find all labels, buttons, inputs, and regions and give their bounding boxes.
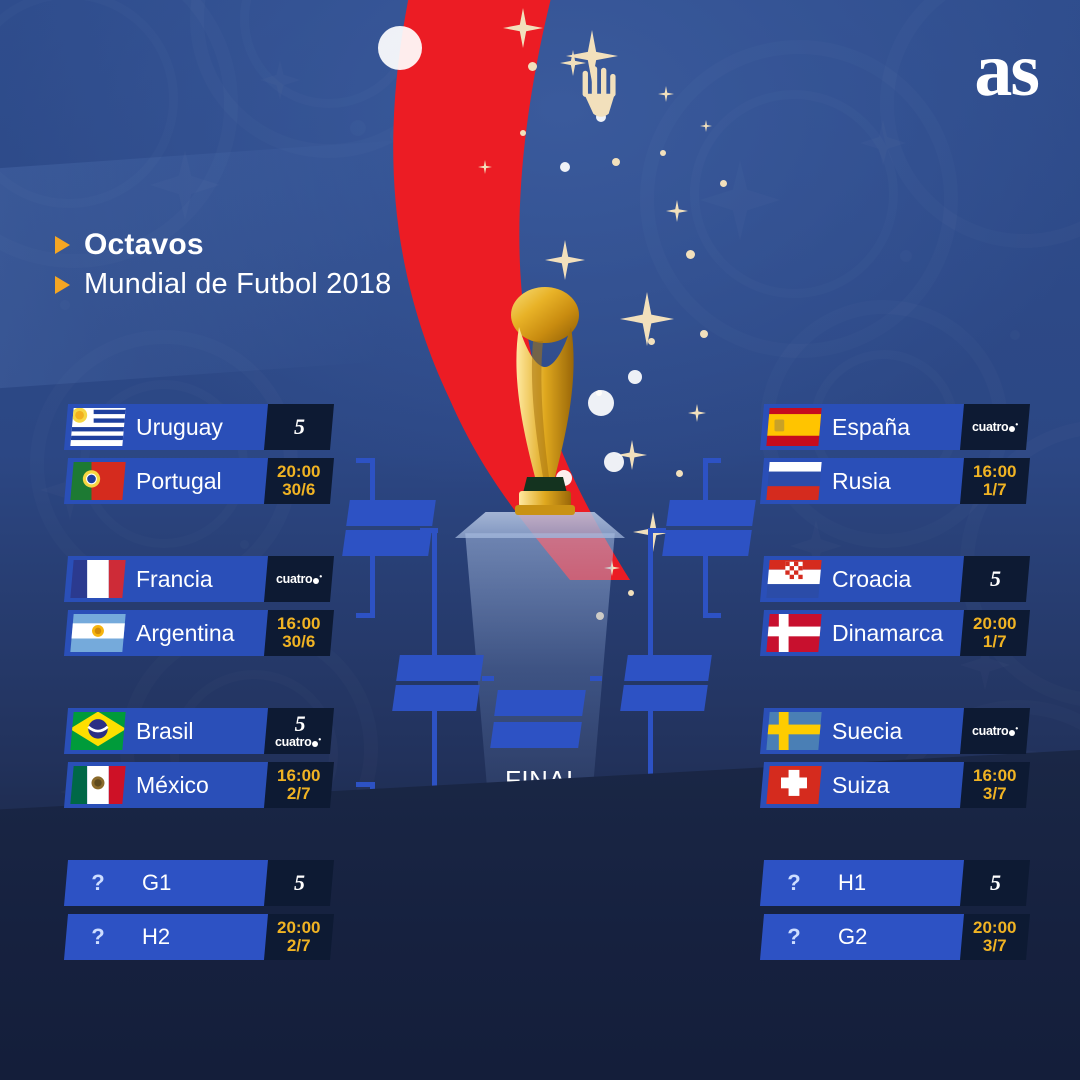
kickoff-hour: 20:00 [277,463,320,481]
connector-stub [420,528,438,533]
connector-stub [703,458,721,463]
match-team-row[interactable]: ?H15 [762,860,1022,906]
kickoff-time: 16:0030/6 [277,615,320,651]
kickoff-time: 16:003/7 [973,767,1016,803]
kickoff-time: 20:001/7 [973,615,1016,651]
bracket-infographic: Octavos Mundial de Futbol 2018 as FINAL … [0,0,1080,1080]
flag-suiza-icon [766,766,821,804]
kickoff-hour: 16:00 [973,767,1016,785]
connector-vertical [370,880,375,942]
kickoff-date: 1/7 [973,481,1016,499]
match-team-row[interactable]: Argentina16:0030/6 [66,610,326,656]
kickoff-date: 2/7 [277,785,320,803]
connector-vertical [703,458,708,520]
title-row-secondary: Mundial de Futbol 2018 [55,268,392,301]
flag-brasil-icon [70,712,125,750]
channel-panel: cuatro• [960,708,1030,754]
connector-vertical [703,880,708,942]
title-row-primary: Octavos [55,228,392,262]
match-team-row[interactable]: ?G15 [66,860,326,906]
team-name: G1 [142,860,171,906]
semifinal-slot [624,655,712,681]
final-slot [490,722,582,748]
connector-stub [356,937,374,942]
connector-vertical [648,528,653,668]
unknown-team-icon: ? [768,914,820,960]
page-title: Octavos Mundial de Futbol 2018 [55,228,392,307]
kickoff-panel: 16:001/7 [960,458,1030,504]
team-name: Brasil [136,708,194,754]
flag-dinamarca-icon [766,614,821,652]
connector-vertical [432,528,437,668]
semifinal-slot [620,685,708,711]
match-card[interactable]: Españacuatro•Rusia16:001/7 [762,404,1022,512]
match-team-row[interactable]: Portugal20:0030/6 [66,458,326,504]
match-card[interactable]: ?G15?H220:002/7 [66,860,326,968]
kickoff-date: 30/6 [277,633,320,651]
match-team-row[interactable]: México16:002/7 [66,762,326,808]
connector-vertical [703,782,708,844]
connector-stub [356,613,374,618]
match-team-row[interactable]: Brasil5cuatro• [66,708,326,754]
kickoff-date: 2/7 [277,937,320,955]
cuatro-logo-icon: cuatro• [275,736,321,749]
match-team-row[interactable]: Franciacuatro• [66,556,326,602]
telecinco-logo-icon: 5 [990,872,1001,894]
team-name: Dinamarca [832,610,943,656]
kickoff-hour: 16:00 [277,767,320,785]
telecinco-logo-icon: 5 [294,872,305,894]
final-slot [494,690,586,716]
flag-mexico-icon [70,766,125,804]
quarterfinal-slot [342,530,432,556]
pedestal-top [455,512,625,538]
kickoff-hour: 20:00 [277,919,320,937]
kickoff-hour: 20:00 [973,615,1016,633]
channel-panel: 5 [960,860,1030,906]
kickoff-date: 30/6 [277,481,320,499]
match-card[interactable]: Sueciacuatro•Suiza16:003/7 [762,708,1022,816]
quarterfinal-slot [662,530,752,556]
unknown-team-icon: ? [72,860,124,906]
connector-stub [703,613,721,618]
heading-line1: Octavos [84,228,204,262]
match-team-row[interactable]: Croacia5 [762,556,1022,602]
flag-uruguay-icon [70,408,125,446]
connector-vertical [432,700,437,840]
kickoff-panel: 20:002/7 [264,914,334,960]
kickoff-time: 16:002/7 [277,767,320,803]
connector-vertical [703,556,708,618]
connector-stub [703,782,721,787]
triangle-bullet-icon [55,236,70,254]
connector-stub [482,676,494,681]
cuatro-logo-icon: cuatro• [972,725,1018,738]
match-team-row[interactable]: Suiza16:003/7 [762,762,1022,808]
final-label: FINAL [505,765,581,796]
match-team-row[interactable]: ?G220:003/7 [762,914,1022,960]
flag-argentina-icon [70,614,125,652]
kickoff-panel: 20:0030/6 [264,458,334,504]
team-name: Suecia [832,708,902,754]
connector-stub [356,458,374,463]
pedestal [455,520,625,850]
channel-panel: 5cuatro• [264,708,334,754]
flag-suecia-icon [766,712,821,750]
team-name: Croacia [832,556,911,602]
flag-portugal-icon [70,462,125,500]
semifinal-slot [396,655,484,681]
team-name: Suiza [832,762,890,808]
quarterfinal-slot [666,500,756,526]
team-name: G2 [838,914,867,960]
kickoff-panel: 20:001/7 [960,610,1030,656]
flag-espana-icon [766,408,821,446]
channel-panel: 5 [264,404,334,450]
telecinco-logo-icon: 5 [990,568,1001,590]
cuatro-logo-icon: cuatro• [972,421,1018,434]
connector-vertical [648,700,653,840]
unknown-team-icon: ? [768,860,820,906]
unknown-team-icon: ? [72,914,124,960]
connector-stub [420,835,438,840]
kickoff-panel: 16:002/7 [264,762,334,808]
match-card[interactable]: ?H15?G220:003/7 [762,860,1022,968]
team-name: España [832,404,910,450]
team-name: Argentina [136,610,234,656]
kickoff-date: 3/7 [973,937,1016,955]
quarterfinal-slot [666,823,756,849]
match-card[interactable]: Croacia5Dinamarca20:001/7 [762,556,1022,664]
match-card[interactable]: Franciacuatro•Argentina16:0030/6 [66,556,326,664]
connector-stub [648,835,666,840]
kickoff-hour: 16:00 [973,463,1016,481]
channel-panel: 5 [264,860,334,906]
flag-croacia-icon [766,560,821,598]
team-name: Rusia [832,458,891,504]
quarterfinal-slot [662,853,752,879]
connector-stub [703,937,721,942]
match-card[interactable]: Uruguay5Portugal20:0030/6 [66,404,326,512]
connector-vertical [370,556,375,618]
kickoff-hour: 20:00 [973,919,1016,937]
connector-vertical [370,782,375,844]
match-card[interactable]: Brasil5cuatro•México16:002/7 [66,708,326,816]
flag-francia-icon [70,560,125,598]
telecinco-logo-icon: 5 [294,416,305,438]
channel-panel: cuatro• [960,404,1030,450]
kickoff-panel: 20:003/7 [960,914,1030,960]
connector-stub [590,676,602,681]
connector-vertical [370,458,375,520]
match-team-row[interactable]: Rusia16:001/7 [762,458,1022,504]
match-team-row[interactable]: Uruguay5 [66,404,326,450]
kickoff-panel: 16:0030/6 [264,610,334,656]
semifinal-slot [392,685,480,711]
team-name: Portugal [136,458,222,504]
flag-rusia-icon [766,462,821,500]
channel-panel: cuatro• [264,556,334,602]
channel-panel: 5 [960,556,1030,602]
kickoff-date: 1/7 [973,633,1016,651]
quarterfinal-slot [342,853,432,879]
connector-stub [648,528,666,533]
kickoff-time: 20:002/7 [277,919,320,955]
telecinco-logo-icon: 5 [294,713,305,735]
team-name: Uruguay [136,404,223,450]
triangle-bullet-icon [55,276,70,294]
world-cup-trophy-icon [489,281,601,521]
kickoff-date: 3/7 [973,785,1016,803]
quarterfinal-slot [346,823,436,849]
quarterfinal-slot [346,500,436,526]
heading-line2: Mundial de Futbol 2018 [84,268,392,301]
kickoff-time: 20:0030/6 [277,463,320,499]
team-name: H1 [838,860,866,906]
as-logo: as [974,36,1038,104]
cuatro-logo-icon: cuatro• [276,573,322,586]
match-team-row[interactable]: Sueciacuatro• [762,708,1022,754]
kickoff-time: 16:001/7 [973,463,1016,499]
match-team-row[interactable]: Españacuatro• [762,404,1022,450]
team-name: Francia [136,556,213,602]
kickoff-time: 20:003/7 [973,919,1016,955]
match-team-row[interactable]: ?H220:002/7 [66,914,326,960]
kickoff-panel: 16:003/7 [960,762,1030,808]
match-team-row[interactable]: Dinamarca20:001/7 [762,610,1022,656]
team-name: México [136,762,209,808]
connector-stub [356,782,374,787]
team-name: H2 [142,914,170,960]
kickoff-hour: 16:00 [277,615,320,633]
